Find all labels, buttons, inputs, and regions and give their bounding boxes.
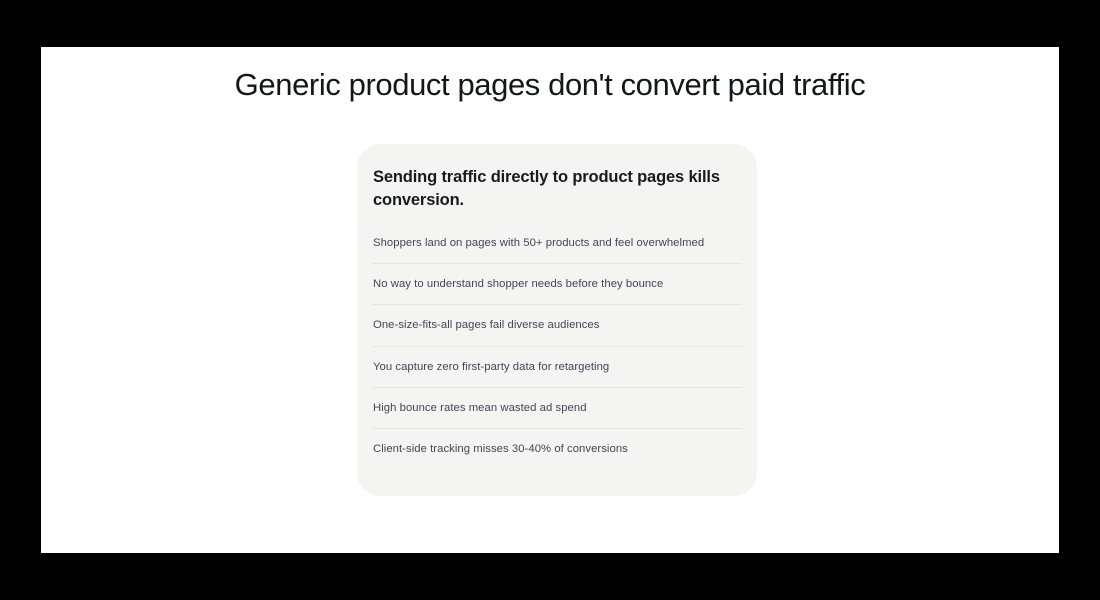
list-item: You capture zero first-party data for re…	[372, 347, 742, 388]
list-item: One-size-fits-all pages fail diverse aud…	[372, 305, 742, 346]
slide-stage: Generic product pages don't convert paid…	[0, 0, 1100, 600]
slide-panel: Generic product pages don't convert paid…	[41, 47, 1059, 553]
list-item: Client-side tracking misses 30-40% of co…	[372, 429, 742, 469]
list-item: No way to understand shopper needs befor…	[372, 264, 742, 305]
problem-list: Shoppers land on pages with 50+ products…	[372, 223, 742, 470]
list-item: Shoppers land on pages with 50+ products…	[372, 223, 742, 264]
problem-card: Sending traffic directly to product page…	[357, 144, 757, 496]
list-item: High bounce rates mean wasted ad spend	[372, 388, 742, 429]
card-heading: Sending traffic directly to product page…	[372, 166, 742, 212]
page-title: Generic product pages don't convert paid…	[41, 66, 1059, 105]
